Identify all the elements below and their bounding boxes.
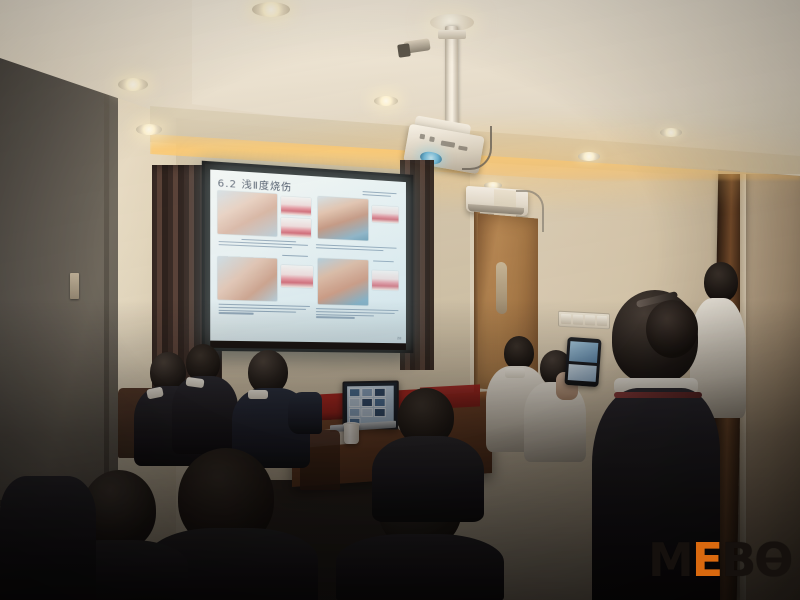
slide-thumbnail [374, 408, 386, 417]
slide-annotation-mid [282, 255, 312, 259]
smartphone-screen-lower [568, 364, 597, 382]
slide-caption-4 [316, 308, 400, 321]
projector-label-strip [441, 140, 456, 147]
slide-page-number: 28 [397, 335, 401, 340]
slide-thumbnail [361, 408, 373, 417]
slide-diagram-skin-2 [281, 217, 311, 238]
slide-photo-wound-dressing [318, 258, 368, 305]
uniform-trim [614, 392, 702, 398]
slide-thumbnail [361, 398, 373, 407]
slide-diagram-skin-1 [281, 196, 311, 216]
smartphone-screen [569, 341, 598, 363]
slide-caption-2 [316, 244, 399, 253]
slide-thumbnail [349, 408, 360, 417]
door-viewport-glass [496, 262, 507, 315]
projection-screen-frame: 6.2 浅Ⅱ度烧伤 [202, 161, 414, 353]
slide-thumbnail [349, 388, 360, 397]
wall-switch[interactable] [585, 315, 595, 326]
paper-cup [344, 424, 359, 444]
wall-switch-plate[interactable] [558, 311, 610, 330]
slide-photo-hand-treatment [318, 196, 368, 240]
wall-switch[interactable] [561, 314, 571, 325]
laptop-display [347, 386, 394, 425]
slide-annotation-right [373, 260, 399, 264]
slide-diagram-skin-4 [281, 265, 313, 288]
slide-annotation-topright [363, 191, 401, 199]
slide-photo-burned-leg-2 [218, 256, 278, 301]
smartphone-body[interactable] [564, 337, 601, 387]
ceiling-downlight [252, 2, 290, 17]
slide-diagram-skin-5 [372, 270, 398, 290]
slide-thumbnail [374, 388, 386, 397]
projection-screen: 6.2 浅Ⅱ度烧伤 [210, 170, 406, 344]
wall-switch[interactable] [573, 314, 583, 325]
slide-thumbnail [374, 398, 386, 407]
ceiling-sensor-head [397, 43, 411, 58]
slide-caption-3 [219, 304, 312, 317]
conference-room-photo: 6.2 浅Ⅱ度烧伤 [0, 0, 800, 600]
ceiling-downlight [660, 128, 682, 137]
ceiling-downlight [578, 152, 600, 161]
wall-switch[interactable] [597, 316, 607, 327]
slide-thumbnail [361, 388, 373, 397]
left-wall-light-switch[interactable] [70, 273, 79, 299]
screen-bottom-bar [210, 341, 406, 351]
projector-vent [419, 134, 425, 140]
projector-pole-collar [438, 30, 466, 39]
projector-vent [429, 136, 435, 142]
ceiling-downlight [118, 78, 148, 91]
slide-thumbnail [349, 398, 360, 407]
slide-caption-1 [219, 238, 310, 250]
ceiling-downlight [374, 96, 398, 106]
hair-bun [646, 300, 698, 358]
slide-diagram-skin-3 [372, 205, 398, 223]
slide-photo-burned-leg-1 [218, 191, 278, 237]
ceiling-downlight [136, 124, 162, 135]
